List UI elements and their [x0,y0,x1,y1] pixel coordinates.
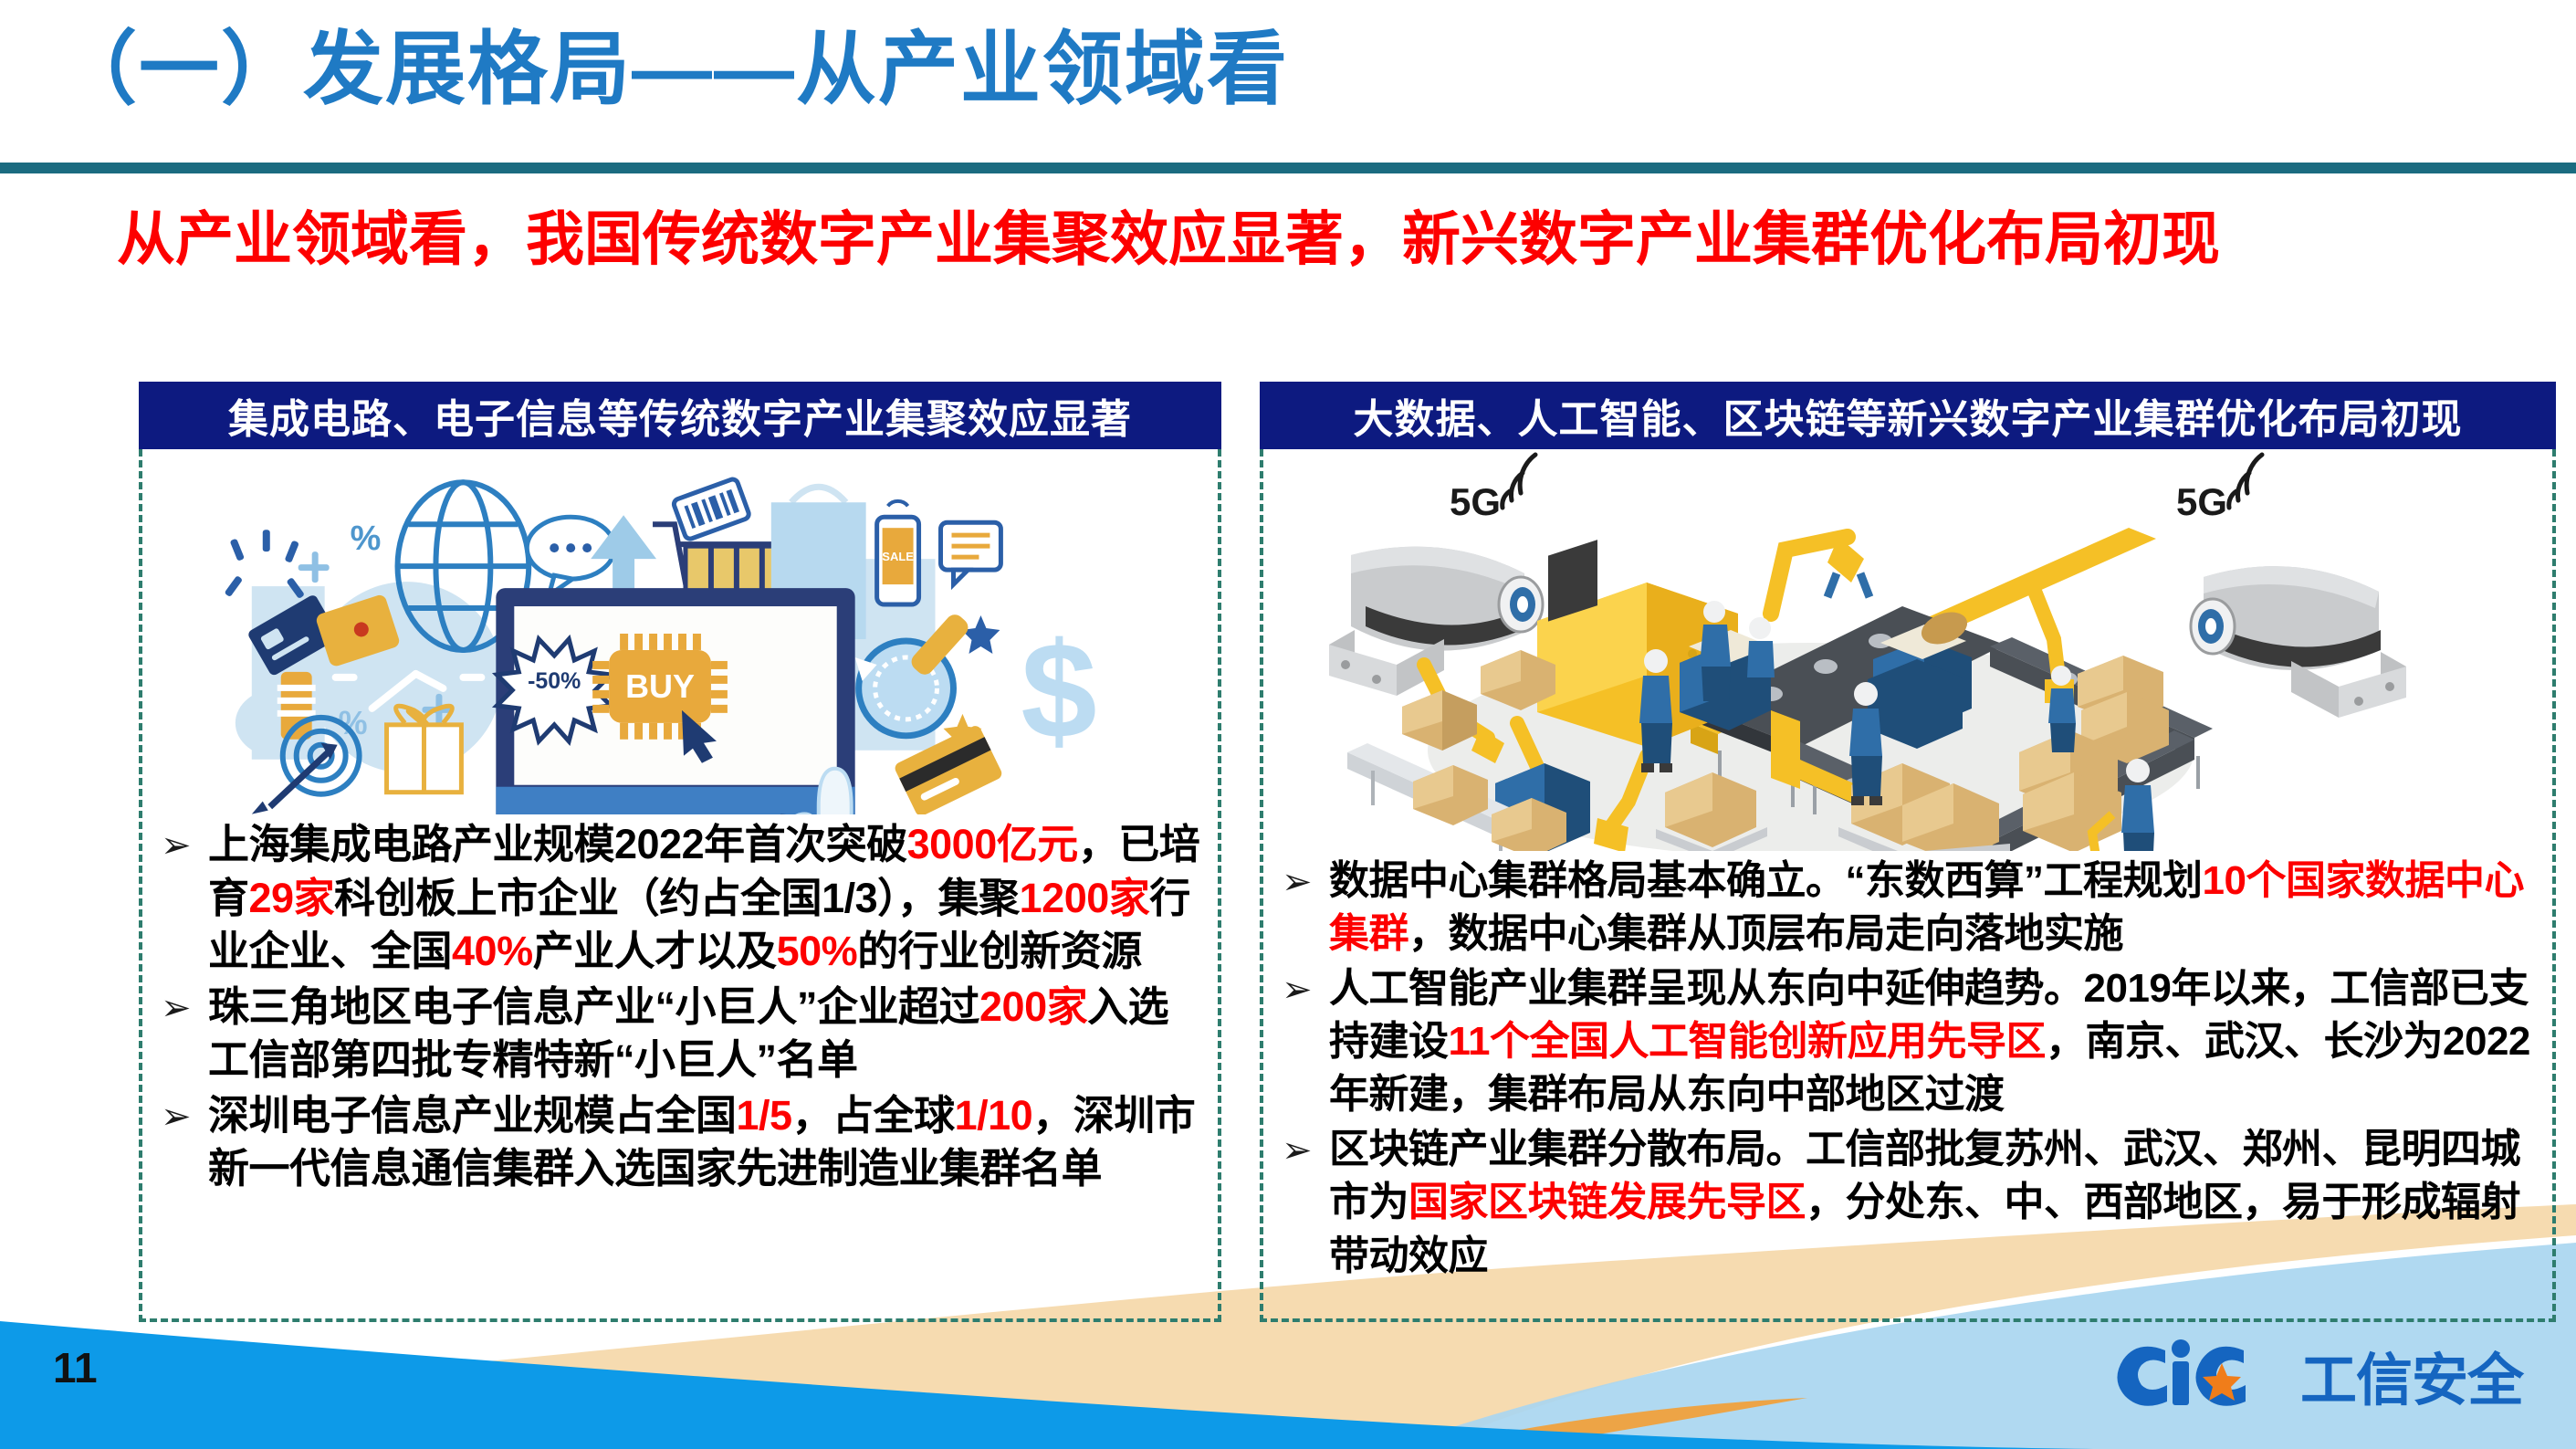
bullet-arrow-icon: ➢ [161,1089,208,1140]
bullet-item: ➢深圳电子信息产业规模占全国1/5，占全球1/10，深圳市新一代信息通信集群入选… [161,1089,1201,1196]
highlight-text: 1/10 [955,1092,1033,1139]
cic-logo: 工信安全 [2114,1334,2523,1416]
bullet-text: 上海集成电路产业规模2022年首次突破3000亿元，已培育29家科创板上市企业（… [208,818,1201,979]
highlight-text: 1/5 [737,1092,792,1139]
slide-canvas: （一）发展格局——从产业领域看 从产业领域看，我国传统数字产业集聚效应显著，新兴… [0,0,2576,1449]
panel-right-header: 大数据、人工智能、区块链等新兴数字产业集群优化布局初现 [1260,382,2556,449]
svg-text:BUY: BUY [625,667,695,705]
highlight-text: 29家 [249,875,335,921]
cic-logo-text: 工信安全 [2300,1334,2523,1416]
panel-right-header-text: 大数据、人工智能、区块链等新兴数字产业集群优化布局初现 [1354,386,2463,445]
plain-text: 数据中心集群格局基本确立。“东数西算”工程规划 [1329,858,2203,903]
title-block: （一）发展格局——从产业领域看 [0,0,2576,183]
highlight-text: 国家区块链发展先导区 [1408,1180,1806,1224]
highlight-text: 50% [777,928,858,974]
plain-text: 深圳电子信息产业规模占全国 [208,1092,737,1139]
bullet-arrow-icon: ➢ [1282,1123,1329,1174]
bullet-item: ➢人工智能产业集群呈现从东向中延伸趋势。2019年以来，工信部已支持建设11个全… [1282,962,2536,1121]
page-number: 11 [53,1343,98,1392]
panel-traditional-digital-industry: 集成电路、电子信息等传统数字产业集聚效应显著 [139,382,1221,1322]
mobile-sale-icon: SALE [877,501,919,604]
svg-text:%: % [351,520,382,558]
panel-left-header-text: 集成电路、电子信息等传统数字产业集聚效应显著 [228,386,1132,445]
bullet-item: ➢数据中心集群格局基本确立。“东数西算”工程规划10个国家数据中心集群，数据中心… [1282,855,2536,961]
bullet-arrow-icon: ➢ [161,818,208,869]
title-divider-rule [0,163,2576,173]
bullet-text: 人工智能产业集群呈现从东向中延伸趋势。2019年以来，工信部已支持建设11个全国… [1329,962,2536,1121]
bullet-item: ➢上海集成电路产业规模2022年首次突破3000亿元，已培育29家科创板上市企业… [161,818,1201,979]
highlight-text: 200家 [979,983,1087,1030]
bullet-arrow-icon: ➢ [1282,962,1329,1013]
worker-6 [1747,617,1775,677]
svg-text:-50%: -50% [528,668,581,694]
panel-left-header: 集成电路、电子信息等传统数字产业集聚效应显著 [139,382,1221,449]
camera-right-5g-label: 5G [2176,480,2227,523]
highlight-text: 1200家 [1020,875,1150,921]
svg-text:SALE: SALE [882,550,914,563]
svg-text:$: $ [1021,614,1096,767]
bullet-arrow-icon: ➢ [161,981,208,1032]
plain-text: 科创板上市企业（约占全国1/3），集聚 [334,875,1020,921]
panel-left-body: % % % [139,449,1221,1322]
bullet-text: 深圳电子信息产业规模占全国1/5，占全球1/10，深圳市新一代信息通信集群入选国… [208,1089,1201,1196]
plain-text: ，占全球 [792,1092,955,1139]
plain-text: ，数据中心集群从顶层布局走向落地实施 [1408,911,2123,956]
bullet-arrow-icon: ➢ [1282,855,1329,906]
right-bullet-list: ➢数据中心集群格局基本确立。“东数西算”工程规划10个国家数据中心集群，数据中心… [1263,851,2552,1283]
bullet-text: 珠三角地区电子信息产业“小巨人”企业超过200家入选工信部第四批专精特新“小巨人… [208,981,1201,1087]
highlight-text: 40% [452,928,533,974]
price-tag-icon [673,478,750,540]
plain-text: 珠三角地区电子信息产业“小巨人”企业超过 [208,983,979,1030]
bullet-text: 区块链产业集群分散布局。工信部批复苏州、武汉、郑州、昆明四城市为国家区块链发展先… [1329,1123,2536,1282]
ecommerce-illustration: % % % [142,449,1218,814]
camera-left-5g-label: 5G [1450,480,1501,523]
plain-text: 产业人才以及 [533,928,777,974]
cctv-camera-right-icon [2191,566,2406,718]
slide-subtitle: 从产业领域看，我国传统数字产业集聚效应显著，新兴数字产业集群优化布局初现 [117,203,2454,278]
page-title: （一）发展格局——从产业领域看 [57,26,1289,114]
plain-text: 的行业创新资源 [857,928,1142,974]
highlight-text: 11个全国人工智能创新应用先导区 [1449,1019,2047,1064]
panel-right-body: 5G [1260,449,2556,1322]
monitor-display: -50% [496,588,854,814]
panel-emerging-digital-industry: 大数据、人工智能、区块链等新兴数字产业集群优化布局初现 [1260,382,2556,1322]
bullet-text: 数据中心集群格局基本确立。“东数西算”工程规划10个国家数据中心集群，数据中心集… [1329,855,2536,961]
bullet-item: ➢珠三角地区电子信息产业“小巨人”企业超过200家入选工信部第四批专精特新“小巨… [161,981,1201,1087]
cic-logo-mark [2114,1336,2293,1414]
plain-text: 上海集成电路产业规模2022年首次突破 [208,821,907,867]
smart-factory-illustration: 5G [1263,449,2552,851]
left-bullet-list: ➢上海集成电路产业规模2022年首次突破3000亿元，已培育29家科创板上市企业… [142,814,1218,1196]
bullet-item: ➢区块链产业集群分散布局。工信部批复苏州、武汉、郑州、昆明四城市为国家区块链发展… [1282,1123,2536,1282]
chat-list-icon [941,522,1001,584]
highlight-text: 3000亿元 [907,821,1078,867]
